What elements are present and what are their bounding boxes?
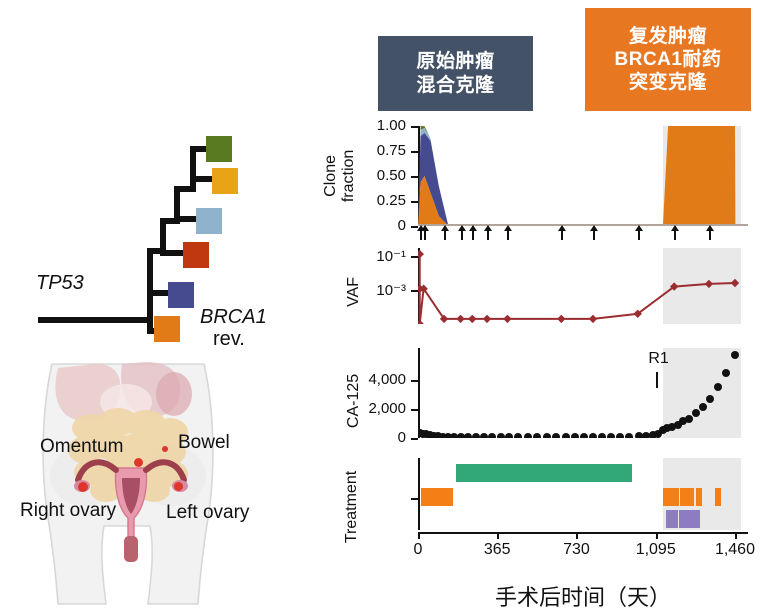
treatment-row-tick (411, 498, 418, 500)
vaf-marker-11 (589, 315, 597, 323)
ca125-point-42 (706, 395, 714, 403)
label-left-ovary: Left ovary (166, 502, 249, 524)
vaf-marker-1 (418, 250, 424, 258)
tree-branch-v-root (147, 272, 153, 334)
treatment-panel (418, 458, 748, 530)
vaf-marker-15 (731, 279, 739, 287)
x-ticklabel-0: 0 (388, 541, 448, 559)
clone-fraction-panel (418, 126, 748, 226)
recurrent-tumour-line-2: BRCA1耐药 (615, 48, 722, 71)
vaf-tick-0 (411, 256, 418, 258)
vaf-marker-10 (557, 315, 565, 323)
vaf-marker-8 (483, 315, 491, 323)
clone-fraction-ticklabel-0.75: 0.75 (340, 142, 406, 159)
treatment-bar-green-1 (456, 464, 632, 482)
vaf-panel (418, 248, 748, 324)
anatomy-illustration: Omentum Bowel Right ovary Left ovary (22, 358, 322, 608)
vaf-marker-14 (705, 280, 713, 288)
r1-annotation-label: R1 (648, 350, 668, 368)
x-axis: 03657301,0951,460 (418, 532, 748, 562)
ca125-tick-4000 (411, 380, 418, 382)
brca1-reversion-label-line2: rev. (213, 328, 245, 351)
timeline-plot-stack: Clone fraction 00.250.500.751.00 VAF 10⁻… (300, 120, 768, 610)
ca125-point-45 (731, 351, 739, 359)
treatment-bar-orange-5 (715, 488, 721, 506)
clone-fraction-ticklabel-1.00: 1.00 (340, 117, 406, 134)
tree-branch-trunk (38, 317, 150, 323)
tumour-dot-left-ovary (174, 482, 183, 491)
ca125-point-15 (497, 433, 505, 438)
clone-fraction-tick-0.50 (411, 176, 418, 178)
x-tick-365 (497, 532, 499, 539)
clone-gold (212, 168, 238, 194)
sample-arrow-head-9 (590, 225, 598, 231)
sample-arrow-head-6 (484, 225, 492, 231)
tumour-dot-right-ovary (78, 482, 88, 492)
spleen (156, 372, 192, 416)
recurrent-tumour-line-1: 复发肿瘤 (629, 25, 707, 48)
ca125-point-23 (571, 433, 579, 438)
clone-fraction-tick-1.00 (411, 126, 418, 128)
sample-arrow-head-8 (558, 225, 566, 231)
vaf-line-series (418, 248, 748, 324)
x-tick-0 (418, 532, 420, 539)
vaf-marker-7 (468, 315, 476, 323)
x-ticklabel-1,460: 1,460 (705, 541, 765, 559)
ca125-point-20 (543, 433, 551, 438)
sample-arrow-head-11 (671, 225, 679, 231)
ca125-point-14 (488, 433, 496, 438)
treatment-axis-title: Treatment (343, 452, 361, 562)
tree-branch-v-d (190, 146, 196, 192)
vaf-marker-9 (503, 315, 511, 323)
sample-arrow-head-5 (469, 225, 477, 231)
clone-fraction-ticklabel-0.50: 0.50 (340, 167, 406, 184)
clone-fraction-baseline (418, 224, 748, 226)
vaf-ticklabel-0: 10⁻¹ (340, 247, 406, 265)
x-tick-1,095 (656, 532, 658, 539)
ca125-point-44 (722, 369, 730, 377)
vaf-ticklabel-1: 10⁻³ (340, 281, 406, 299)
ca125-point-27 (607, 433, 615, 438)
ca125-point-11 (464, 433, 472, 438)
clone-navy (168, 282, 194, 308)
ca125-panel: R1 (418, 348, 748, 438)
ca125-point-22 (562, 433, 570, 438)
label-bowel: Bowel (178, 432, 230, 454)
label-right-ovary: Right ovary (20, 500, 116, 522)
clone-fraction-tick-0.25 (411, 201, 418, 203)
ca125-point-13 (480, 433, 488, 438)
treatment-bar-purple-1 (666, 510, 679, 528)
vaf-line (420, 254, 735, 324)
ca125-tick-0 (411, 438, 418, 440)
clone-lightblue (196, 208, 222, 234)
sample-arrow-head-12 (706, 225, 714, 231)
treatment-bar-orange-4 (696, 488, 702, 506)
ca125-ticklabel-4000: 4,000 (340, 371, 406, 388)
phylogenetic-tree: TP53 BRCA1 rev. (0, 120, 300, 360)
ca125-point-25 (589, 433, 597, 438)
ca125-point-16 (505, 433, 513, 438)
clone-fraction-axis-title-line1: Clone (322, 155, 339, 197)
tumour-dot-bowel (162, 446, 168, 452)
ca125-point-17 (514, 433, 522, 438)
sample-arrow-head-2 (421, 225, 429, 231)
clone-brick (183, 242, 209, 268)
treatment-bar-orange-2 (663, 488, 678, 506)
ca125-point-12 (472, 433, 480, 438)
label-omentum: Omentum (40, 436, 123, 458)
tp53-label: TP53 (36, 272, 84, 295)
ca125-point-21 (552, 433, 560, 438)
anatomy-svg (22, 358, 322, 608)
clone-fraction-ticklabel-0.25: 0.25 (340, 192, 406, 209)
x-ticklabel-730: 730 (546, 541, 606, 559)
x-ticklabel-365: 365 (467, 541, 527, 559)
ca125-ticklabel-2000: 2,000 (340, 400, 406, 417)
recurrent-tumour-box: 复发肿瘤 BRCA1耐药 突变克隆 (585, 8, 751, 111)
treatment-bar-orange-3 (680, 488, 694, 506)
sample-arrow-head-10 (635, 225, 643, 231)
treatment-bar-orange-1 (421, 488, 453, 506)
ca125-point-26 (598, 433, 606, 438)
ca125-point-19 (533, 433, 541, 438)
ca125-ticklabel-0: 0 (340, 429, 406, 446)
vaf-tick-1 (411, 290, 418, 292)
primary-tumour-box: 原始肿瘤 混合克隆 (378, 36, 533, 111)
tree-branch-to-gold (190, 176, 214, 182)
x-ticklabel-1,095: 1,095 (626, 541, 686, 559)
recurrent-tumour-line-3: 突变克隆 (629, 71, 707, 94)
ca125-point-24 (580, 433, 588, 438)
ca125-tick-2000 (411, 409, 418, 411)
clone-fraction-ticklabel-0: 0 (340, 217, 406, 234)
sample-arrow-head-3 (441, 225, 449, 231)
treatment-bar-purple-2 (679, 510, 699, 528)
clone-olive (206, 136, 232, 162)
x-axis-title: 手术后时间（天） (398, 580, 768, 612)
sample-arrow-head-7 (504, 225, 512, 231)
x-tick-730 (576, 532, 578, 539)
ca125-point-29 (625, 433, 633, 438)
cervix (124, 536, 138, 562)
clone-orange-recurrence-area (663, 126, 736, 226)
clone-fraction-tick-0.75 (411, 151, 418, 153)
tumour-dot-omentum (134, 458, 143, 467)
x-tick-1,460 (735, 532, 737, 539)
primary-tumour-line-1: 原始肿瘤 (416, 50, 494, 73)
clone-orange (154, 316, 180, 342)
r1-annotation-mark (656, 372, 658, 388)
primary-tumour-line-2: 混合克隆 (416, 74, 494, 97)
ca125-point-18 (524, 433, 532, 438)
ca125-point-28 (616, 433, 624, 438)
sample-arrow-head-4 (458, 225, 466, 231)
clone-fraction-areas (418, 126, 748, 226)
vaf-marker-6 (456, 315, 464, 323)
brca1-reversion-label-line1: BRCA1 (200, 306, 267, 329)
ca125-point-41 (699, 403, 707, 411)
